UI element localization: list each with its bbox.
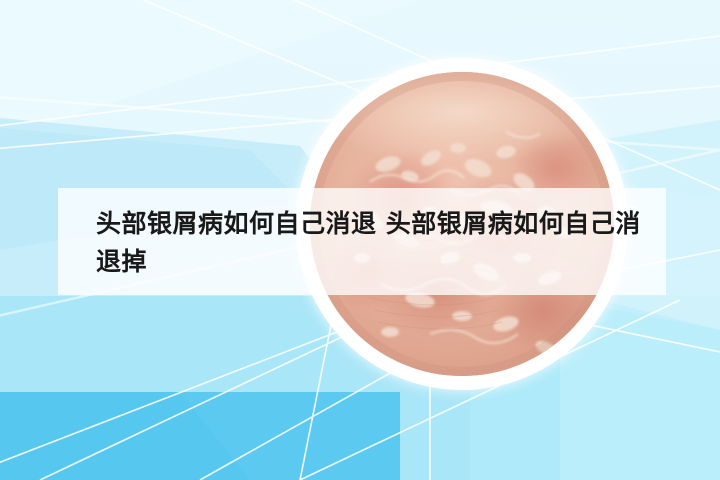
screenshot-canvas: 头部银屑病如何自己消退 头部银屑病如何自己消退掉 bbox=[0, 0, 720, 480]
caption-text: 头部银屑病如何自己消退 头部银屑病如何自己消退掉 bbox=[96, 205, 652, 281]
